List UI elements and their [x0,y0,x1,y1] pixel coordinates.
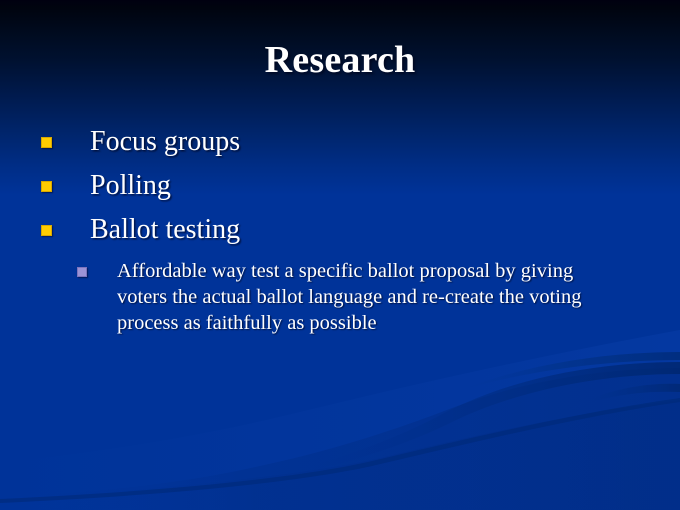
slide-title: Research [0,38,680,82]
presentation-slide: Research Focus groups Polling Ballot tes… [0,0,680,510]
bullet-text: Focus groups [90,122,680,159]
bullet-item-polling: Polling [0,166,680,210]
yellow-square-bullet-icon [41,137,52,148]
bullet-item-focus-groups: Focus groups [0,122,680,166]
slide-title-text: Research [265,38,416,82]
sub-bullet-item-ballot-testing-detail: Affordable way test a specific ballot pr… [0,258,680,336]
lavender-square-bullet-icon [77,267,87,277]
slide-body-content: Focus groups Polling Ballot testing Affo… [0,122,680,336]
yellow-square-bullet-icon [41,181,52,192]
bullet-text: Ballot testing [90,210,680,247]
yellow-square-bullet-icon [41,225,52,236]
sub-bullet-text: Affordable way test a specific ballot pr… [117,258,622,336]
bullet-item-ballot-testing: Ballot testing [0,210,680,254]
bullet-text: Polling [90,166,680,203]
